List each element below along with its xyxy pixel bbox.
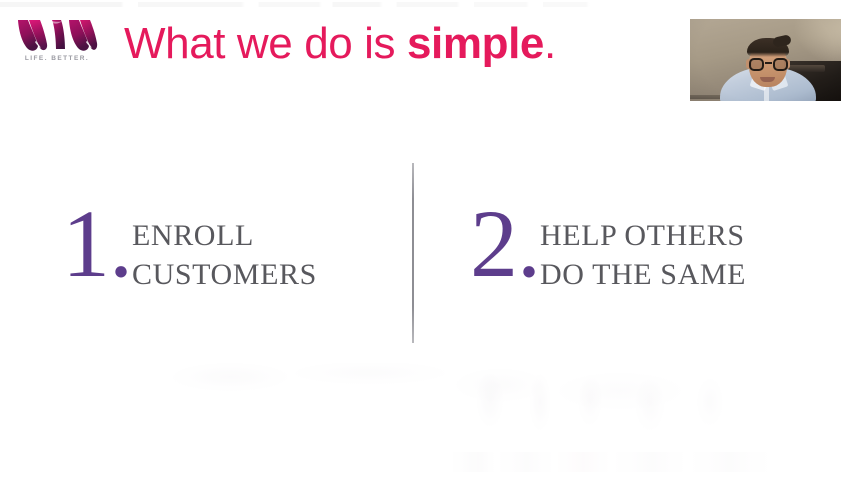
step-2-number: 2. xyxy=(470,198,540,290)
step-1-number: 1. xyxy=(62,198,132,290)
viv-wordmark-icon xyxy=(16,18,98,52)
step-1-label: ENROLL CUSTOMERS xyxy=(132,216,317,294)
logo-tagline: LIFE. BETTER. xyxy=(16,55,98,62)
frame-artifact-middle xyxy=(170,363,690,423)
headline-emphasis: simple xyxy=(407,19,544,68)
headline-trailing: . xyxy=(544,19,556,68)
brand-logo: LIFE. BETTER. xyxy=(16,18,106,70)
frame-artifact-top xyxy=(0,2,862,7)
step-1-line-1: ENROLL xyxy=(132,219,254,252)
step-2-line-1: HELP OTHERS xyxy=(540,219,745,252)
presenter-video-feed[interactable] xyxy=(690,19,841,101)
frame-artifact-bottom xyxy=(450,452,800,472)
frame-artifact-middle-right xyxy=(470,360,800,450)
slide-headline: What we do is simple. xyxy=(124,18,556,70)
step-2-line-2: DO THE SAME xyxy=(540,255,746,294)
step-item-1: 1. ENROLL CUSTOMERS xyxy=(62,196,317,294)
step-item-2: 2. HELP OTHERS DO THE SAME xyxy=(470,196,746,294)
step-1-line-2: CUSTOMERS xyxy=(132,255,317,294)
presentation-slide: LIFE. BETTER. What we do is simple. 1. xyxy=(0,0,862,485)
headline-lead: What we do is xyxy=(124,19,407,68)
step-2-label: HELP OTHERS DO THE SAME xyxy=(540,216,746,294)
video-vignette xyxy=(690,19,841,101)
steps-container: 1. ENROLL CUSTOMERS 2. HELP OTHERS DO TH… xyxy=(0,196,862,316)
